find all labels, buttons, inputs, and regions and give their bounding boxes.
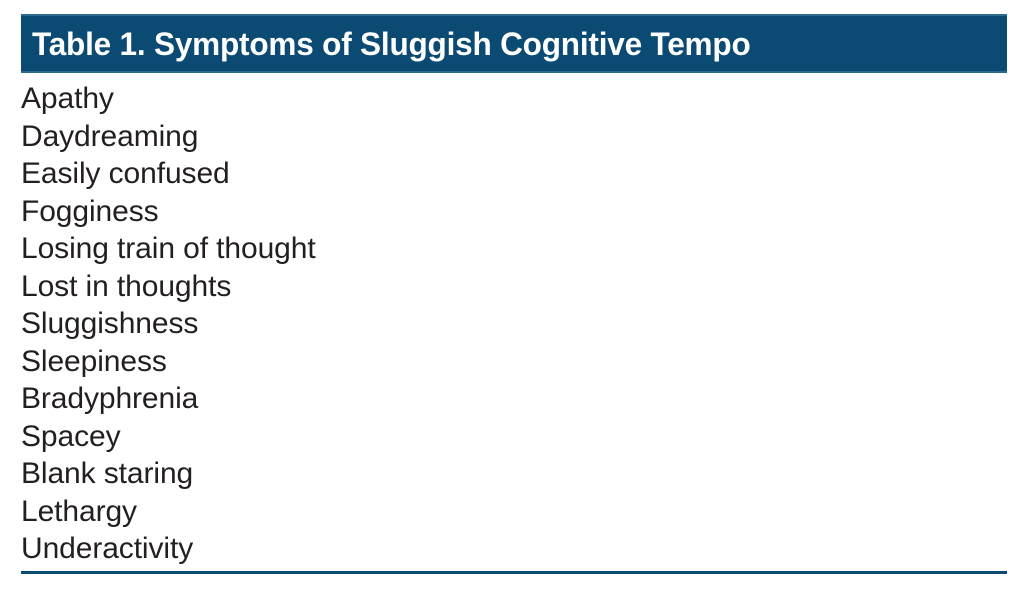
list-item: Lethargy (21, 493, 1007, 531)
list-item: Bradyphrenia (21, 380, 1007, 418)
list-item: Easily confused (21, 155, 1007, 193)
table-header-bar: Table 1. Symptoms of Sluggish Cognitive … (21, 14, 1007, 73)
list-item: Blank staring (21, 455, 1007, 493)
list-item: Losing train of thought (21, 230, 1007, 268)
table-title: Table 1. Symptoms of Sluggish Cognitive … (32, 28, 751, 60)
list-item: Lost in thoughts (21, 268, 1007, 306)
list-item: Apathy (21, 80, 1007, 118)
list-item: Sluggishness (21, 305, 1007, 343)
list-item: Underactivity (21, 530, 1007, 568)
list-item: Daydreaming (21, 118, 1007, 156)
table-bottom-rule (21, 571, 1007, 574)
list-item: Spacey (21, 418, 1007, 456)
list-item: Sleepiness (21, 343, 1007, 381)
list-item: Fogginess (21, 193, 1007, 231)
symptom-list: Apathy Daydreaming Easily confused Foggi… (21, 80, 1007, 568)
table-figure: Table 1. Symptoms of Sluggish Cognitive … (0, 0, 1028, 591)
